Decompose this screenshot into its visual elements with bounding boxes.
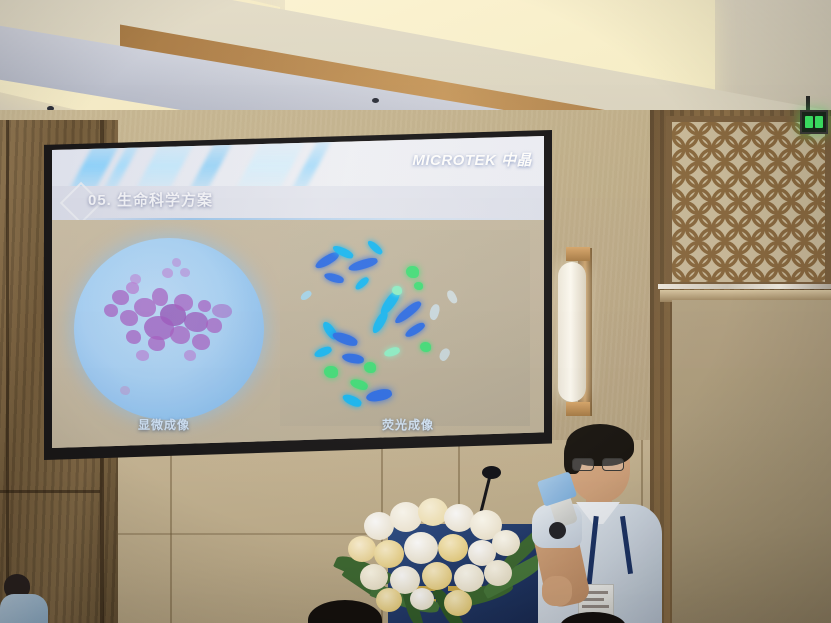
stained-cell	[136, 350, 149, 361]
fluorescent-signal	[331, 330, 359, 348]
wall-sconce-cap-top	[566, 247, 590, 261]
fluorescent-signal	[370, 310, 389, 335]
flower	[438, 534, 468, 562]
glasses-lens	[572, 458, 594, 471]
stained-cell	[112, 290, 129, 305]
fluorescent-signal	[428, 303, 442, 321]
stained-cell	[148, 336, 165, 351]
stained-cell	[212, 304, 232, 318]
wood-seam	[6, 120, 9, 623]
fluorescent-signal	[341, 393, 363, 409]
fluorescent-signal	[366, 239, 384, 256]
microphone-capsule	[549, 522, 566, 539]
fluorescent-signal	[420, 342, 431, 352]
fluorescent-signal	[365, 387, 393, 404]
stained-cell	[192, 334, 210, 350]
stained-cell	[206, 318, 222, 333]
panel-seam	[170, 440, 172, 623]
fluorescent-signal	[323, 272, 344, 285]
flower	[410, 588, 434, 610]
stained-cell	[152, 288, 168, 306]
slide-body: 显微成像	[52, 220, 544, 448]
ceiling-spotlight	[372, 98, 379, 103]
stained-cell	[184, 350, 196, 361]
fluorescent-signal	[392, 286, 402, 295]
fluorescent-signal	[406, 266, 419, 278]
fluorescent-signal	[299, 289, 313, 302]
projection-screen: MICROTEK 中晶 05. 生命科学方案	[52, 136, 544, 448]
flower	[404, 532, 438, 564]
flower	[454, 564, 484, 592]
attendee-body	[0, 594, 48, 623]
fluorescent-signal	[414, 282, 423, 290]
presenter-hand	[542, 576, 572, 606]
fluorescent-signal	[349, 378, 369, 392]
lattice-frame	[666, 116, 831, 288]
stained-cell	[198, 300, 211, 312]
gooseneck-microphone	[482, 466, 501, 479]
fluorescent-signal	[383, 346, 401, 359]
glasses-icon	[572, 458, 628, 471]
glasses-lens	[602, 458, 624, 471]
stained-cell	[126, 330, 141, 344]
exit-sign-glyph	[805, 116, 813, 128]
slide-title: 05. 生命科学方案	[88, 189, 213, 210]
flower	[484, 560, 512, 586]
stained-cell	[120, 386, 130, 395]
fluorescence-image	[280, 230, 530, 426]
fluorescent-signal	[437, 347, 452, 363]
stained-cell	[162, 268, 173, 278]
wall-sconce-cap-bottom	[566, 402, 590, 416]
fluorescent-signal	[354, 275, 370, 291]
microtek-logo: MICROTEK 中晶	[412, 149, 532, 170]
stained-cell	[180, 268, 190, 277]
conference-room-photo: MICROTEK 中晶 05. 生命科学方案	[0, 0, 831, 623]
presenter	[520, 418, 680, 623]
wood-seam	[0, 490, 100, 493]
stained-cell	[170, 326, 190, 344]
badge-text-line	[582, 605, 609, 608]
flower	[444, 590, 472, 616]
stained-cell	[104, 304, 118, 317]
flower	[348, 536, 376, 562]
fluorescent-signal	[364, 362, 376, 373]
fluorescence-caption: 荧光成像	[382, 416, 434, 433]
stained-cell	[172, 258, 181, 267]
fluorescent-signal	[404, 321, 427, 340]
stained-cell	[174, 294, 193, 311]
flower	[376, 588, 402, 612]
exit-sign-glyph	[815, 116, 823, 128]
fluorescent-signal	[341, 353, 364, 365]
flower	[418, 498, 448, 526]
flower	[492, 530, 520, 556]
door-chrome-rail	[658, 284, 831, 289]
flower	[390, 502, 422, 532]
stained-cell	[130, 274, 141, 284]
microscopy-image	[74, 238, 264, 420]
fluorescent-signal	[313, 345, 333, 360]
microscopy-caption: 显微成像	[138, 416, 190, 433]
seated-attendee	[0, 574, 56, 623]
flower	[360, 564, 388, 590]
stained-cell	[120, 310, 138, 326]
door-panel	[672, 300, 831, 623]
fluorescent-signal	[445, 289, 458, 305]
exit-sign	[800, 110, 828, 134]
fluorescent-signal	[324, 366, 338, 378]
flower	[422, 562, 452, 590]
wall-sconce-light	[558, 262, 586, 402]
